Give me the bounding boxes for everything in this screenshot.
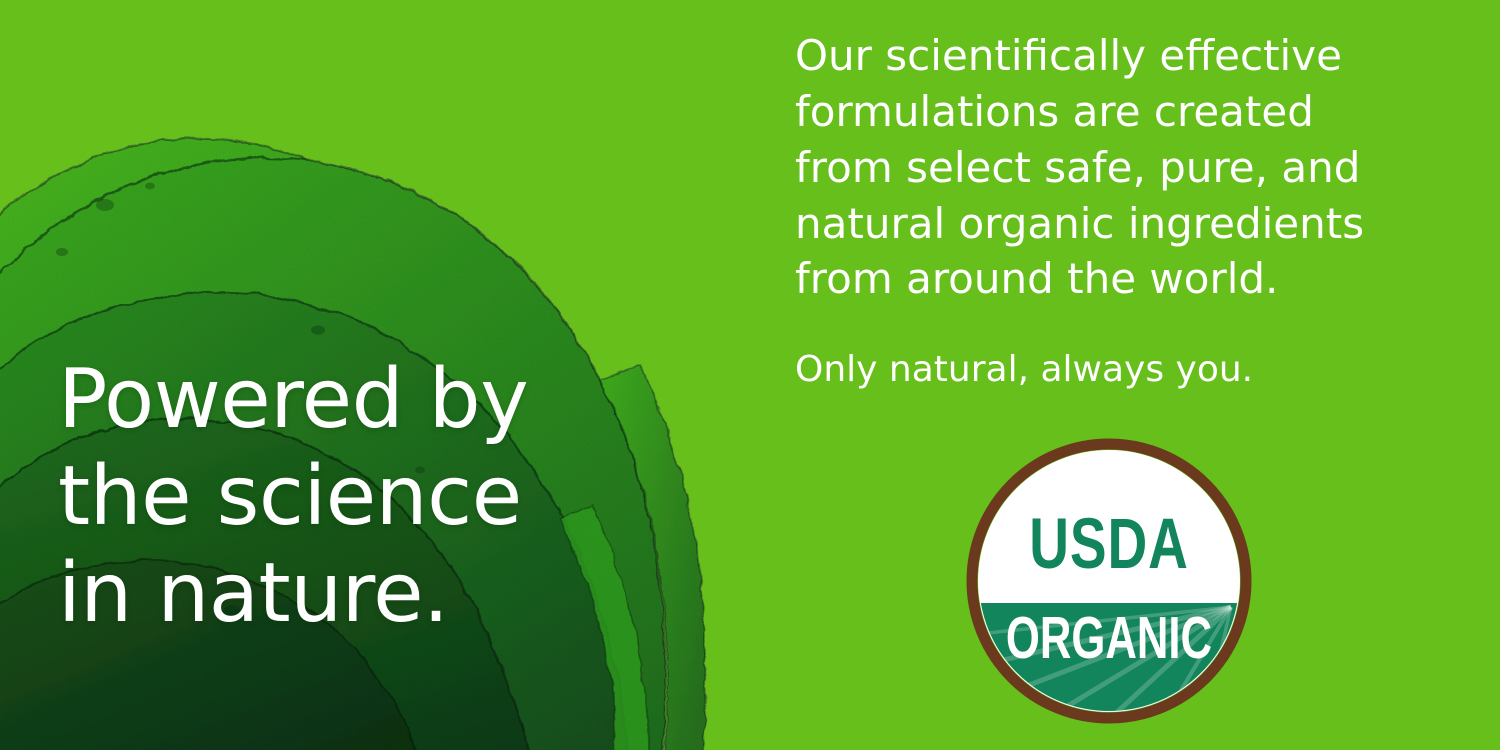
seal-bottom-text: ORGANIC — [1006, 606, 1212, 672]
page-title: Powered by the science in nature. — [58, 352, 718, 642]
usda-organic-seal: USDA ORGANIC — [963, 435, 1255, 727]
body-paragraph: Our scientifically effective formulation… — [795, 28, 1415, 307]
promotional-banner: Powered by the science in nature. Our sc… — [0, 0, 1500, 750]
seal-top-text: USDA — [1029, 503, 1188, 584]
copy-block: Our scientifically effective formulation… — [795, 28, 1415, 394]
tagline: Only natural, always you. — [795, 347, 1415, 394]
